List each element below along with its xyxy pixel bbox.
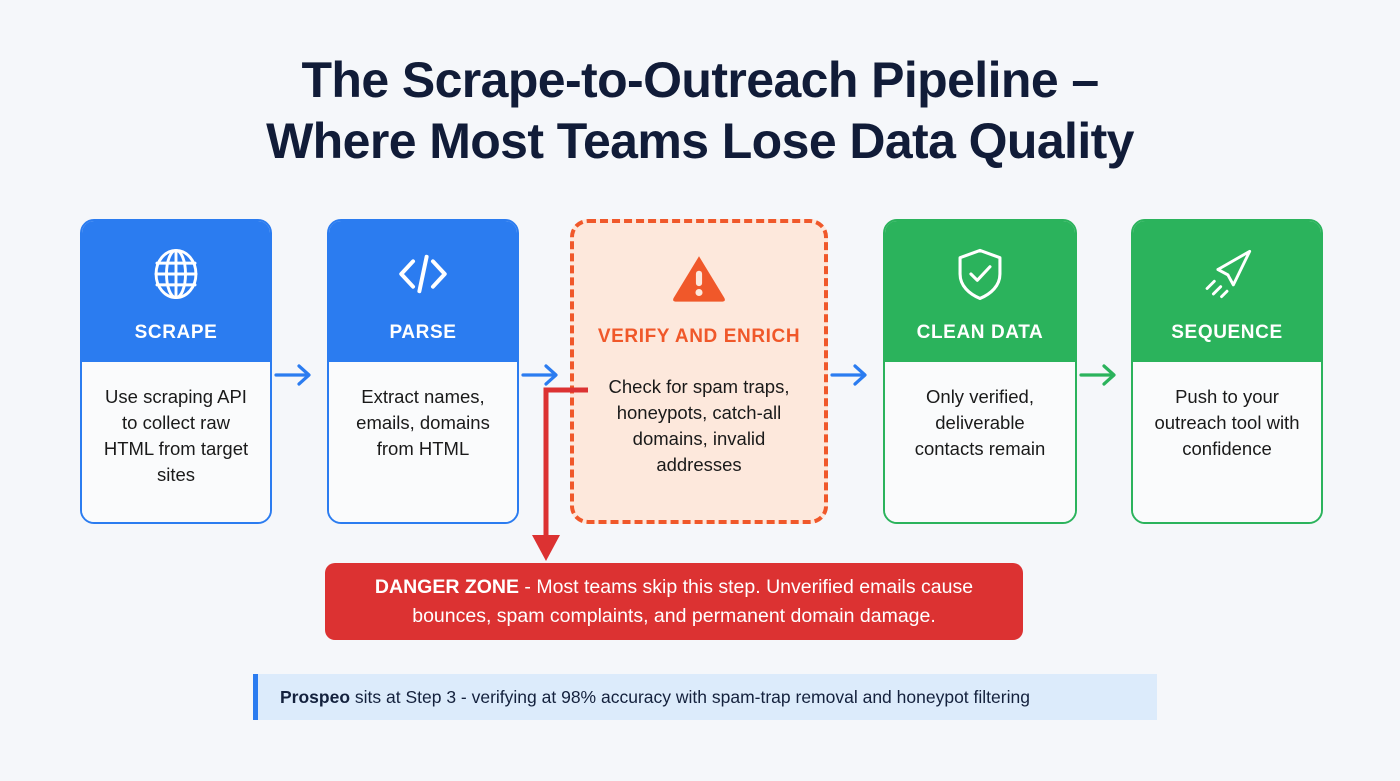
pipeline-step-sequence[interactable]: SEQUENCE Push to your outreach tool with… <box>1131 219 1323 524</box>
footer-note-brand: Prospeo <box>280 687 350 707</box>
footer-note-body: sits at Step 3 - verifying at 98% accura… <box>350 687 1030 707</box>
warning-triangle-icon <box>670 249 728 307</box>
pipeline-step-verify-and-enrich[interactable]: VERIFY AND ENRICH Check for spam traps, … <box>570 219 828 524</box>
page-title-line-1: The Scrape-to-Outreach Pipeline – <box>0 50 1400 111</box>
pipeline-step-verify-label: VERIFY AND ENRICH <box>598 325 800 350</box>
code-brackets-icon <box>394 245 452 303</box>
footer-note: Prospeo sits at Step 3 - verifying at 98… <box>253 674 1157 720</box>
pipeline-step-clean-data[interactable]: CLEAN DATA Only verified, deliverable co… <box>883 219 1077 524</box>
pipeline-step-scrape-header: SCRAPE <box>82 221 270 362</box>
pipeline-step-verify-description: Check for spam traps, honeypots, catch-a… <box>588 374 810 479</box>
pipeline-step-sequence-body: Push to your outreach tool with confiden… <box>1133 362 1321 522</box>
pipeline-step-clean-data-body: Only verified, deliverable contacts rema… <box>885 362 1075 522</box>
pipeline-step-parse-header: PARSE <box>329 221 517 362</box>
pipeline-step-verify-header: VERIFY AND ENRICH <box>574 223 824 360</box>
pipeline-step-verify-body: Check for spam traps, honeypots, catch-a… <box>574 360 824 520</box>
paper-plane-icon <box>1198 245 1256 303</box>
pipeline-row: SCRAPE Use scraping API to collect raw H… <box>0 219 1400 524</box>
pipeline-step-sequence-description: Push to your outreach tool with confiden… <box>1147 384 1307 463</box>
page-title-line-2: Where Most Teams Lose Data Quality <box>0 111 1400 172</box>
shield-check-icon <box>951 245 1009 303</box>
globe-icon <box>147 245 205 303</box>
arrow-right-icon-scrape-to-parse <box>274 362 320 388</box>
pipeline-step-scrape[interactable]: SCRAPE Use scraping API to collect raw H… <box>80 219 272 524</box>
pipeline-step-clean-data-description: Only verified, deliverable contacts rema… <box>899 384 1061 463</box>
pipeline-step-sequence-label: SEQUENCE <box>1171 321 1282 346</box>
pipeline-step-parse-body: Extract names, emails, domains from HTML <box>329 362 517 522</box>
pipeline-step-parse-description: Extract names, emails, domains from HTML <box>343 384 503 463</box>
pipeline-step-scrape-body: Use scraping API to collect raw HTML fro… <box>82 362 270 522</box>
pipeline-step-clean-data-label: CLEAN DATA <box>917 321 1044 346</box>
pipeline-step-parse-label: PARSE <box>389 321 456 346</box>
arrow-right-icon-verify-to-clean <box>830 362 876 388</box>
pipeline-step-sequence-header: SEQUENCE <box>1133 221 1321 362</box>
danger-zone-banner: DANGER ZONE - Most teams skip this step.… <box>325 563 1023 640</box>
danger-zone-text: DANGER ZONE - Most teams skip this step.… <box>351 573 997 631</box>
arrow-elbow-down-icon-verify-to-danger <box>524 385 588 565</box>
page-title: The Scrape-to-Outreach Pipeline – Where … <box>0 0 1400 172</box>
pipeline-step-clean-data-header: CLEAN DATA <box>885 221 1075 362</box>
pipeline-step-scrape-label: SCRAPE <box>135 321 218 346</box>
arrow-right-icon-clean-to-sequence <box>1079 362 1125 388</box>
pipeline-step-scrape-description: Use scraping API to collect raw HTML fro… <box>96 384 256 489</box>
pipeline-step-parse[interactable]: PARSE Extract names, emails, domains fro… <box>327 219 519 524</box>
danger-zone-label: DANGER ZONE <box>375 576 519 598</box>
footer-note-text: Prospeo sits at Step 3 - verifying at 98… <box>280 686 1030 709</box>
